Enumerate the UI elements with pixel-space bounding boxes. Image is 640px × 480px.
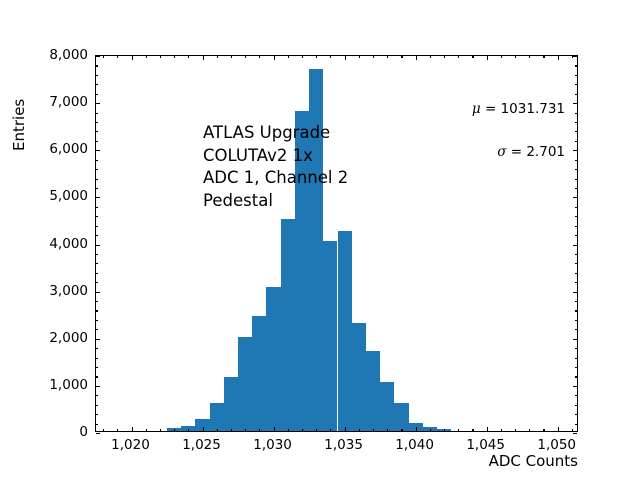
axis-tick <box>217 56 218 58</box>
axis-tick <box>231 429 232 431</box>
histogram-bar <box>210 403 224 431</box>
axis-tick <box>575 84 577 85</box>
axis-tick <box>96 226 98 227</box>
x-tick-label: 1,030 <box>253 437 292 453</box>
axis-tick <box>132 427 133 431</box>
axis-tick <box>501 56 502 58</box>
y-tick-label: 8,000 <box>88 47 127 63</box>
y-tick-label: 1,000 <box>88 377 127 393</box>
axis-tick <box>401 429 402 431</box>
axis-tick <box>316 56 317 58</box>
histogram-bar <box>266 287 280 431</box>
histogram-bar <box>380 382 394 431</box>
axis-tick <box>575 301 577 302</box>
axis-tick <box>117 429 118 431</box>
axis-tick <box>575 367 577 368</box>
axis-tick <box>458 56 459 58</box>
mu-value: = 1031.731 <box>481 101 565 117</box>
axis-tick <box>245 56 246 58</box>
histogram-figure: Entries ADC Counts ATLAS Upgrade COLUTAv… <box>0 0 640 480</box>
axis-tick <box>330 56 331 58</box>
axis-tick <box>345 56 346 60</box>
axis-tick <box>96 395 98 396</box>
axis-tick <box>203 427 204 431</box>
axis-tick <box>96 216 98 217</box>
axis-tick <box>217 429 218 431</box>
axis-tick <box>96 131 98 132</box>
axis-tick <box>575 216 577 217</box>
axis-tick <box>487 427 488 431</box>
axis-tick <box>203 56 204 60</box>
axis-tick <box>146 429 147 431</box>
axis-tick <box>259 56 260 58</box>
axis-tick <box>359 429 360 431</box>
axis-tick <box>188 429 189 431</box>
axis-tick <box>575 169 577 170</box>
y-tick-label: 6,000 <box>88 141 127 157</box>
axis-tick <box>575 65 577 66</box>
histogram-bar <box>224 377 238 431</box>
axis-tick <box>472 56 473 58</box>
axis-tick <box>558 427 559 431</box>
histogram-bar <box>323 241 337 431</box>
axis-tick <box>231 56 232 58</box>
axis-tick <box>529 56 530 58</box>
axis-tick <box>575 348 577 349</box>
axis-tick <box>575 122 577 123</box>
axis-tick <box>174 56 175 58</box>
axis-tick <box>575 414 577 415</box>
axis-tick <box>543 429 544 431</box>
stat-mu: μ = 1031.731 <box>96 101 577 117</box>
x-tick-label: 1,045 <box>466 437 505 453</box>
axis-tick <box>487 56 488 60</box>
axis-tick <box>96 301 98 302</box>
axis-tick <box>288 429 289 431</box>
y-tick-label: 7,000 <box>88 94 127 110</box>
x-tick-label: 1,040 <box>395 437 434 453</box>
axis-tick <box>401 56 402 58</box>
axis-tick <box>573 433 577 434</box>
axis-tick <box>245 429 246 431</box>
axis-tick <box>575 358 577 359</box>
histogram-bar <box>352 323 366 431</box>
axis-tick <box>274 427 275 431</box>
axis-tick <box>575 131 577 132</box>
axis-tick <box>373 429 374 431</box>
axis-tick <box>575 424 577 425</box>
axis-tick <box>543 56 544 58</box>
histogram-bar <box>338 231 352 431</box>
axis-tick <box>96 414 98 415</box>
axis-tick <box>146 56 147 58</box>
axis-tick <box>174 429 175 431</box>
axis-tick <box>573 197 577 198</box>
stat-sigma: σ = 2.701 <box>96 144 577 160</box>
axis-tick <box>501 429 502 431</box>
axis-tick <box>96 122 98 123</box>
axis-tick <box>430 429 431 431</box>
x-tick-label: 1,020 <box>111 437 150 453</box>
axis-tick <box>575 395 577 396</box>
axis-tick <box>515 429 516 431</box>
axis-tick <box>572 429 573 431</box>
y-tick-label: 2,000 <box>88 330 127 346</box>
x-tick-label: 1,050 <box>537 437 576 453</box>
axis-tick <box>575 141 577 142</box>
axis-tick <box>96 84 98 85</box>
axis-tick <box>575 282 577 283</box>
axis-tick <box>558 56 559 60</box>
axis-tick <box>458 429 459 431</box>
axis-tick <box>416 427 417 431</box>
axis-tick <box>573 56 577 57</box>
axis-tick <box>302 429 303 431</box>
axis-tick <box>575 329 577 330</box>
histogram-bar <box>394 403 408 431</box>
axis-tick <box>288 56 289 58</box>
axis-tick <box>575 226 577 227</box>
histogram-bar <box>366 351 380 431</box>
axis-tick <box>529 429 530 431</box>
axis-tick <box>96 207 98 208</box>
axis-tick <box>96 367 98 368</box>
axis-tick <box>575 310 577 311</box>
axis-tick <box>96 348 98 349</box>
axis-tick <box>96 358 98 359</box>
axis-tick <box>387 429 388 431</box>
x-tick-label: 1,035 <box>324 437 363 453</box>
y-tick-label: 3,000 <box>88 283 127 299</box>
axis-tick <box>373 56 374 58</box>
axis-tick <box>359 56 360 58</box>
y-tick-label: 0 <box>88 424 97 440</box>
axis-tick <box>160 429 161 431</box>
axis-tick <box>96 263 98 264</box>
axis-tick <box>316 429 317 431</box>
sigma-value: = 2.701 <box>506 144 565 160</box>
axis-tick <box>259 429 260 431</box>
y-tick-label: 5,000 <box>88 188 127 204</box>
axis-tick <box>430 56 431 58</box>
x-tick-label: 1,025 <box>182 437 221 453</box>
axis-tick <box>575 376 577 377</box>
x-axis-label: ADC Counts <box>0 452 578 470</box>
axis-tick <box>575 235 577 236</box>
axis-tick <box>132 56 133 60</box>
axis-tick <box>103 429 104 431</box>
axis-tick <box>444 56 445 58</box>
axis-tick <box>96 169 98 170</box>
axis-tick <box>387 56 388 58</box>
axis-tick <box>575 263 577 264</box>
axis-tick <box>96 310 98 311</box>
histogram-bar <box>281 219 295 431</box>
y-axis-label: Entries <box>10 55 28 195</box>
axis-tick <box>302 56 303 58</box>
axis-tick <box>515 56 516 58</box>
axis-tick <box>416 56 417 60</box>
axis-tick <box>96 75 98 76</box>
axis-tick <box>573 245 577 246</box>
histogram-bar <box>252 316 266 431</box>
y-tick-label: 4,000 <box>88 236 127 252</box>
axis-tick <box>96 405 98 406</box>
axis-tick <box>573 339 577 340</box>
axis-tick <box>330 429 331 431</box>
axis-tick <box>160 56 161 58</box>
axis-tick <box>96 179 98 180</box>
axis-tick <box>472 429 473 431</box>
axis-tick <box>345 427 346 431</box>
axis-tick <box>575 188 577 189</box>
axis-tick <box>575 320 577 321</box>
axis-tick <box>575 75 577 76</box>
histogram-bar <box>238 337 252 431</box>
axis-tick <box>575 207 577 208</box>
axis-tick <box>96 65 98 66</box>
mu-symbol: μ <box>472 101 481 117</box>
axis-tick <box>96 273 98 274</box>
axis-tick <box>575 273 577 274</box>
plot-axes: ATLAS Upgrade COLUTAv2 1x ADC 1, Channel… <box>95 55 578 432</box>
axis-tick <box>96 433 100 434</box>
axis-tick <box>573 292 577 293</box>
axis-tick <box>444 429 445 431</box>
axis-tick <box>575 405 577 406</box>
axis-tick <box>575 94 577 95</box>
axis-tick <box>96 254 98 255</box>
axis-tick <box>188 56 189 58</box>
axis-tick <box>575 254 577 255</box>
axis-tick <box>573 386 577 387</box>
axis-tick <box>274 56 275 60</box>
axis-tick <box>96 320 98 321</box>
axis-tick <box>575 179 577 180</box>
annotation-text: ATLAS Upgrade COLUTAv2 1x ADC 1, Channel… <box>203 122 348 212</box>
